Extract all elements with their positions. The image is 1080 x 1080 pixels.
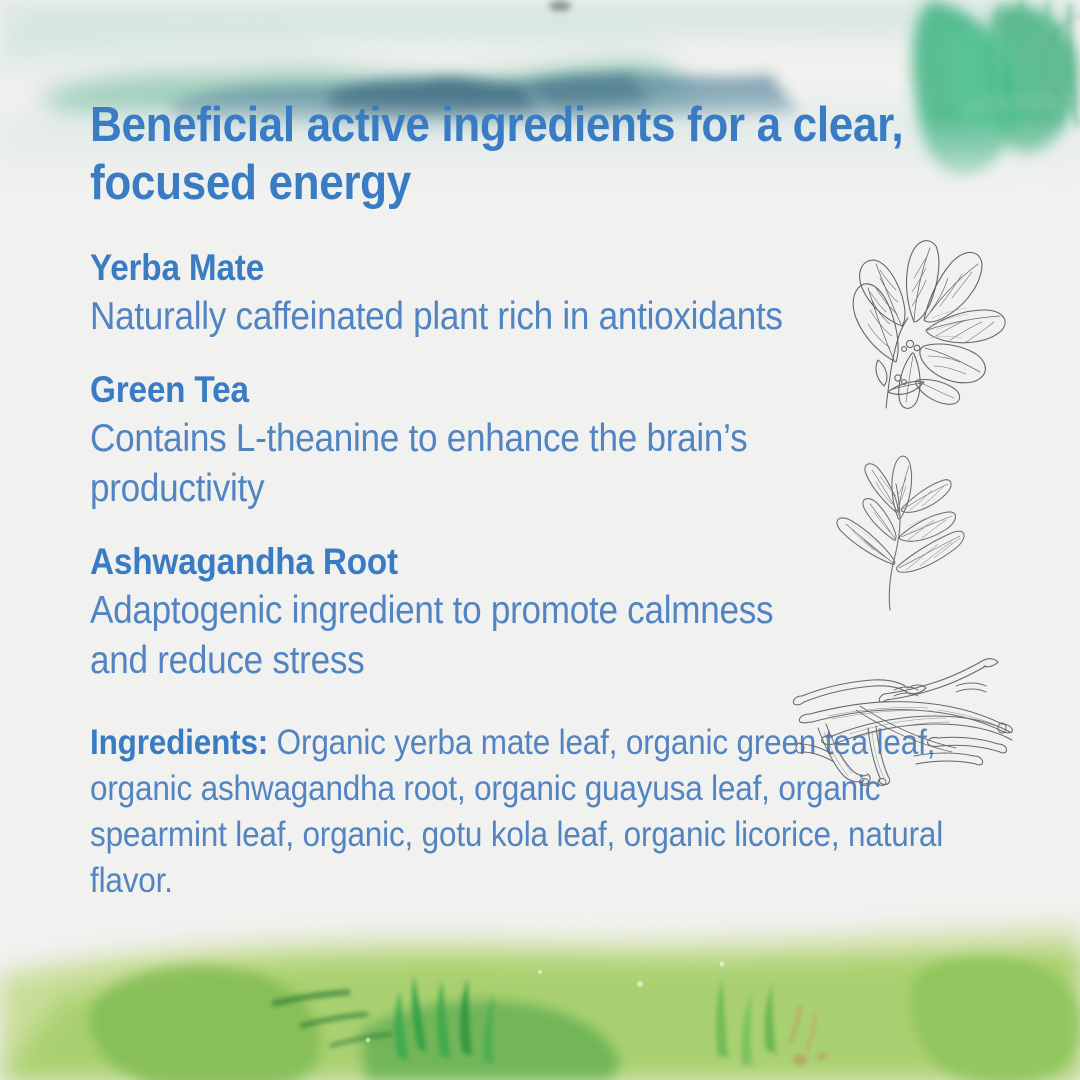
content-column: Beneficial active ingredients for a clea… [90,96,990,939]
ingredient-section-yerba-mate: Yerba Mate Naturally caffeinated plant r… [90,246,990,342]
ingredients-label: Ingredients: [90,723,268,762]
ingredient-section-ashwagandha-root: Ashwagandha Root Adaptogenic ingredient … [90,540,990,686]
ingredients-paragraph: Ingredients: Organic yerba mate leaf, or… [90,720,954,904]
ingredient-section-green-tea: Green Tea Contains L-theanine to enhance… [90,368,990,514]
ingredient-description-ashwagandha-root: Adaptogenic ingredient to promote calmne… [90,586,810,686]
product-detail-page: Beneficial active ingredients for a clea… [0,0,1080,1080]
ingredient-title-ashwagandha-root: Ashwagandha Root [90,540,792,584]
ingredient-description-yerba-mate: Naturally caffeinated plant rich in anti… [90,292,810,342]
ingredient-description-green-tea: Contains L-theanine to enhance the brain… [90,414,810,514]
page-title: Beneficial active ingredients for a clea… [90,96,918,212]
ingredient-title-yerba-mate: Yerba Mate [90,246,792,290]
ingredient-title-green-tea: Green Tea [90,368,792,412]
